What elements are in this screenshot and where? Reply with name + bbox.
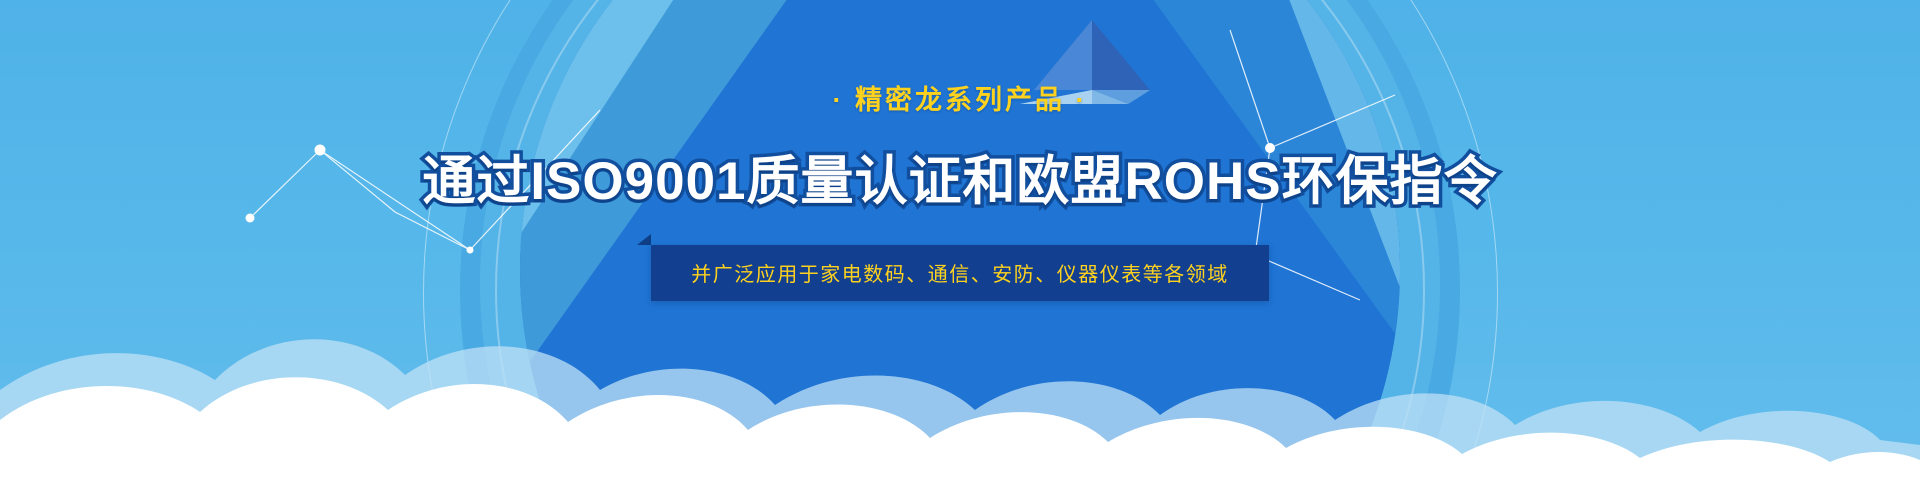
tagline-text: 并广泛应用于家电数码、通信、安防、仪器仪表等各领域	[651, 245, 1269, 301]
ribbon-fold-corner	[637, 234, 651, 245]
promo-banner: · 精密龙系列产品 · 通过ISO9001质量认证和欧盟ROHS环保指令 并广泛…	[0, 0, 1920, 480]
banner-content: · 精密龙系列产品 · 通过ISO9001质量认证和欧盟ROHS环保指令 并广泛…	[0, 0, 1920, 480]
banner-headline: 通过ISO9001质量认证和欧盟ROHS环保指令	[422, 139, 1497, 215]
banner-subtitle: · 精密龙系列产品 ·	[833, 78, 1088, 117]
tagline-ribbon: 并广泛应用于家电数码、通信、安防、仪器仪表等各领域	[651, 245, 1269, 301]
